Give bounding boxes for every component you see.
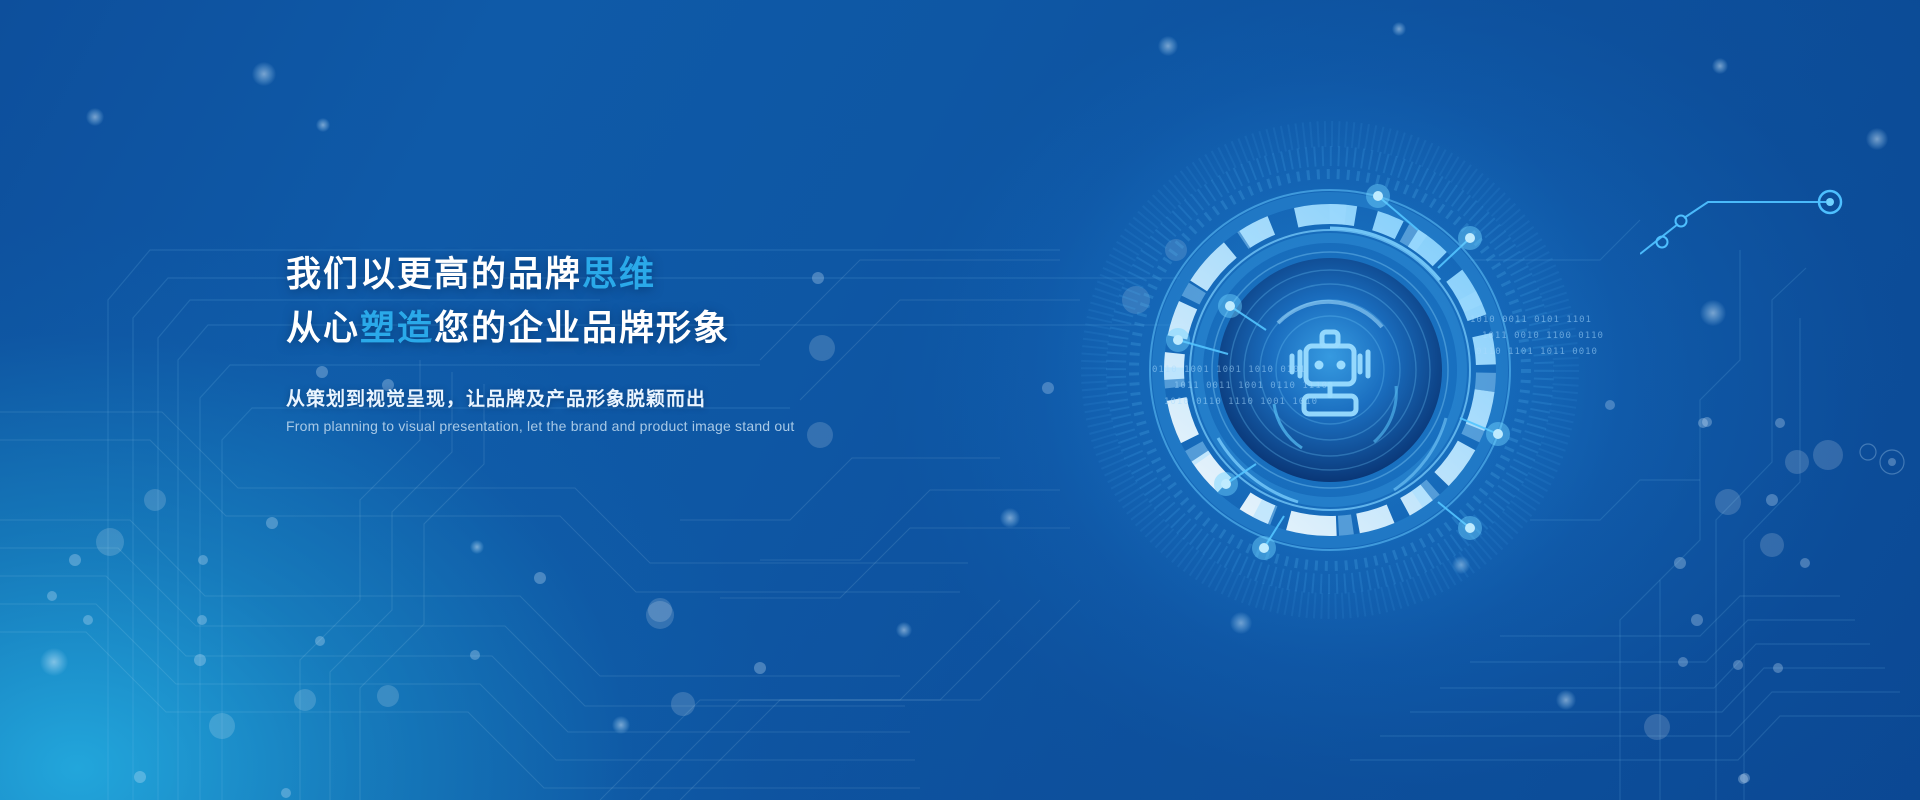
connector-path — [1640, 202, 1826, 254]
headline-line-2-highlight: 塑造 — [360, 309, 434, 348]
bokeh-dot — [612, 716, 630, 734]
headline-line-2: 从心塑造您的企业品牌形象 — [286, 302, 1106, 356]
connector-endpoint-dot — [1826, 198, 1834, 206]
binary-text-right-3: 0110 1101 1011 0010 — [1476, 346, 1598, 358]
headline-line-2-prefix: 从心 — [286, 309, 360, 348]
bokeh-dot — [1556, 690, 1576, 710]
bokeh-dot — [252, 62, 276, 86]
binary-text-right: 1010 0011 0101 1101 — [1470, 314, 1592, 326]
binary-text-left-2: 1011 0011 1001 0110 1110 — [1174, 380, 1328, 392]
connector-node-small-2 — [1657, 237, 1668, 248]
headline-line-2-suffix: 您的企业品牌形象 — [434, 309, 730, 348]
hud-circle-graphic: 0110 1001 1001 1010 0101 1011 0011 1001 … — [1078, 118, 1582, 622]
bokeh-dot — [86, 108, 104, 126]
binary-text-left-3: 1010 0110 1110 1001 1010 — [1164, 396, 1318, 408]
bokeh-dot — [316, 118, 330, 132]
headline-line-1-text: 我们以更高的品牌 — [286, 255, 582, 294]
binary-text-left: 0110 1001 1001 1010 0101 — [1152, 364, 1306, 376]
bokeh-dot — [40, 648, 68, 676]
bokeh-dot — [1700, 300, 1726, 326]
hero-banner: 0110 1001 1001 1010 0101 1011 0011 1001 … — [0, 0, 1920, 800]
connector-node-small — [1676, 216, 1687, 227]
bokeh-dot — [470, 540, 484, 554]
binary-text-right-2: 1011 0010 1100 0110 — [1482, 330, 1604, 342]
node-connector-line — [1640, 180, 1920, 300]
bokeh-dot — [896, 622, 912, 638]
headline-line-1: 我们以更高的品牌思维 — [286, 248, 1106, 302]
bokeh-dot — [1712, 58, 1728, 74]
bokeh-dot — [1866, 128, 1888, 150]
subtitle-english: From planning to visual presentation, le… — [286, 418, 1106, 434]
hero-copy-block: 我们以更高的品牌思维 从心塑造您的企业品牌形象 从策划到视觉呈现，让品牌及产品形… — [286, 248, 1106, 434]
subtitle-chinese: 从策划到视觉呈现，让品牌及产品形象脱颖而出 — [286, 384, 1106, 411]
headline-line-1-highlight: 思维 — [582, 255, 656, 294]
